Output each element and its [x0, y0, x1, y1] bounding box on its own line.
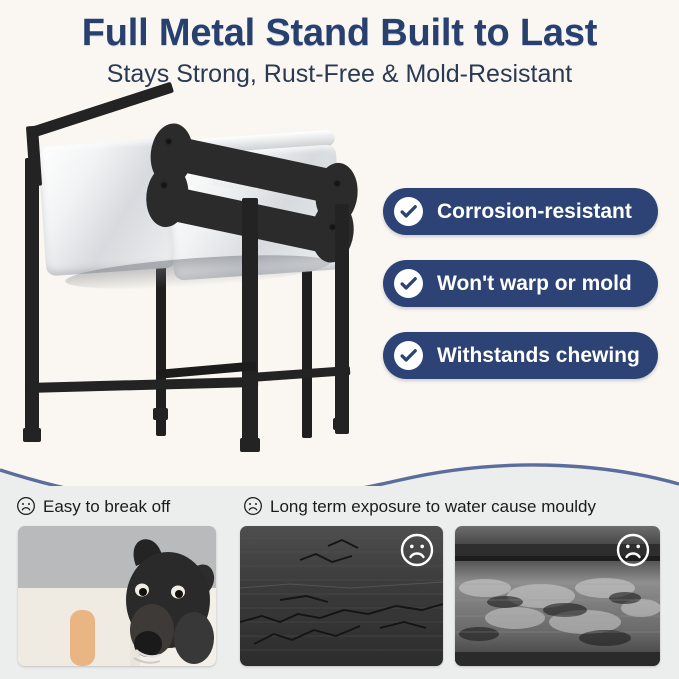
comparison-photo-row [0, 526, 679, 676]
check-circle-icon [394, 341, 423, 370]
page-title: Full Metal Stand Built to Last [0, 12, 679, 55]
feature-badge-list: Corrosion-resistant Won't warp or mold W… [383, 188, 658, 404]
comparison-caption-mouldy: Long term exposure to water cause mouldy [243, 496, 596, 516]
stand-leg-front-left [25, 158, 39, 438]
feature-badge-label: Withstands chewing [437, 344, 640, 368]
check-circle-icon [394, 197, 423, 226]
comparison-section: Easy to break off Long term exposure to … [0, 486, 679, 679]
feature-badge-label: Won't warp or mold [437, 272, 632, 296]
feature-badge-corrosion-resistant[interactable]: Corrosion-resistant [383, 188, 658, 235]
page-subtitle: Stays Strong, Rust-Free & Mold-Resistant [0, 60, 679, 89]
caption-label: Long term exposure to water cause mouldy [270, 498, 596, 515]
feature-badge-label: Corrosion-resistant [437, 200, 632, 224]
stand-foot-back-right [333, 418, 349, 430]
feature-badge-wont-warp-or-mold[interactable]: Won't warp or mold [383, 260, 658, 307]
cracked-wood-photo-graphic [240, 526, 443, 666]
mouldy-wood-photo-graphic [455, 526, 660, 666]
stand-foot-back-left [153, 408, 168, 420]
sad-face-icon [16, 496, 36, 516]
stand-leg-front-right [242, 198, 258, 448]
comparison-photo-cracked-wood [240, 526, 443, 666]
sad-face-icon [243, 496, 263, 516]
stand-leg-side-right [335, 204, 349, 434]
caption-label: Easy to break off [43, 498, 170, 515]
dog-chewing-photo-graphic [18, 526, 216, 666]
comparison-caption-break-off: Easy to break off [16, 496, 170, 516]
feature-badge-withstands-chewing[interactable]: Withstands chewing [383, 332, 658, 379]
product-illustration: MeoWriental [10, 118, 370, 448]
top-section: Full Metal Stand Built to Last Stays Str… [0, 0, 679, 480]
comparison-photo-dog-chewing [18, 526, 216, 666]
stand-crossrail-front [25, 377, 258, 393]
comparison-captions: Easy to break off Long term exposure to … [0, 496, 679, 522]
comparison-photo-mouldy-wood [455, 526, 660, 666]
marketing-image-root: Full Metal Stand Built to Last Stays Str… [0, 0, 679, 679]
check-circle-icon [394, 269, 423, 298]
